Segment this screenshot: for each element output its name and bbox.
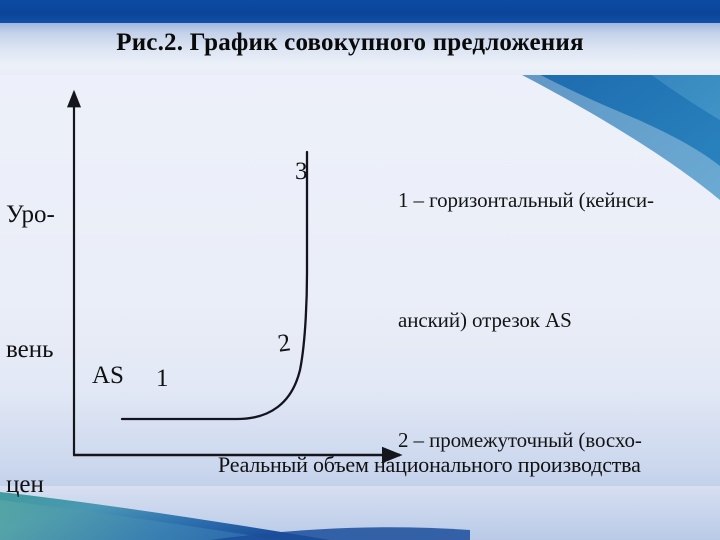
page-title: Рис.2. График совокупного предложения — [0, 26, 700, 60]
y-axis-label-line-1: Уро- — [6, 192, 55, 237]
top-accent-bar — [0, 0, 720, 23]
y-axis-label-line-2: вень — [6, 327, 55, 372]
as-curve — [122, 152, 307, 419]
slide-canvas: Рис.2. График совокупного предложения Ур… — [0, 0, 720, 540]
curve-label-segment-3: 3 — [295, 158, 308, 186]
y-axis-label: Уро- вень цен — [6, 102, 55, 540]
legend-line-2: анский) отрезок AS — [398, 300, 714, 340]
legend-line-3: 2 – промежуточный (восхо- — [398, 420, 714, 460]
supply-curve-chart — [0, 78, 430, 498]
curve-label-segment-1: 1 — [156, 365, 169, 393]
curve-label-as: AS — [92, 362, 124, 390]
legend-line-1: 1 – горизонтальный (кейнси- — [398, 180, 714, 220]
legend: 1 – горизонтальный (кейнси- анский) отре… — [398, 100, 714, 540]
y-axis-label-line-3: цен — [6, 462, 55, 507]
